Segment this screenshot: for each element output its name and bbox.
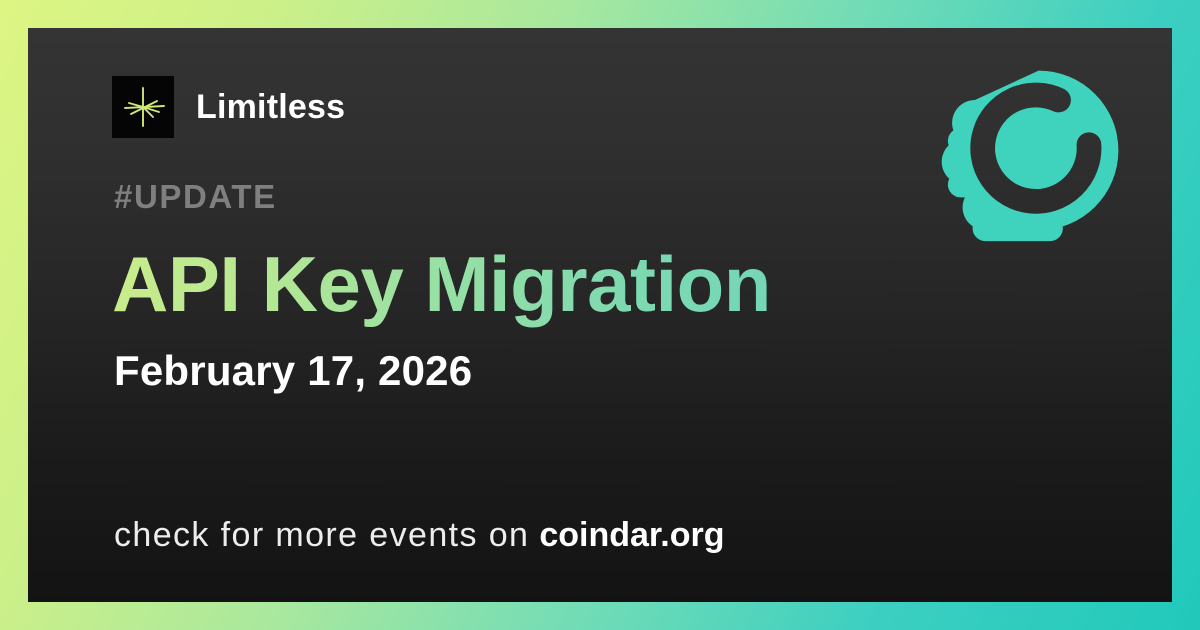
brand-name: Limitless	[196, 90, 345, 124]
coindar-comet-icon	[936, 63, 1126, 253]
event-title: API Key Migration	[112, 242, 771, 328]
footer-note: check for more events oncoindar.org	[114, 518, 724, 552]
event-tag: #UPDATE	[114, 180, 277, 213]
avatar	[112, 76, 174, 138]
starburst-icon	[112, 76, 174, 138]
poster-canvas: Limitless #UPDATE API Key Migration Febr…	[0, 0, 1200, 630]
footer-site-link[interactable]: coindar.org	[539, 516, 724, 554]
coindar-logo	[936, 63, 1126, 253]
brand-row: Limitless	[112, 76, 345, 138]
footer-lead-text: check for more events on	[114, 516, 529, 554]
event-date: February 17, 2026	[114, 350, 472, 392]
event-card: Limitless #UPDATE API Key Migration Febr…	[28, 28, 1172, 602]
